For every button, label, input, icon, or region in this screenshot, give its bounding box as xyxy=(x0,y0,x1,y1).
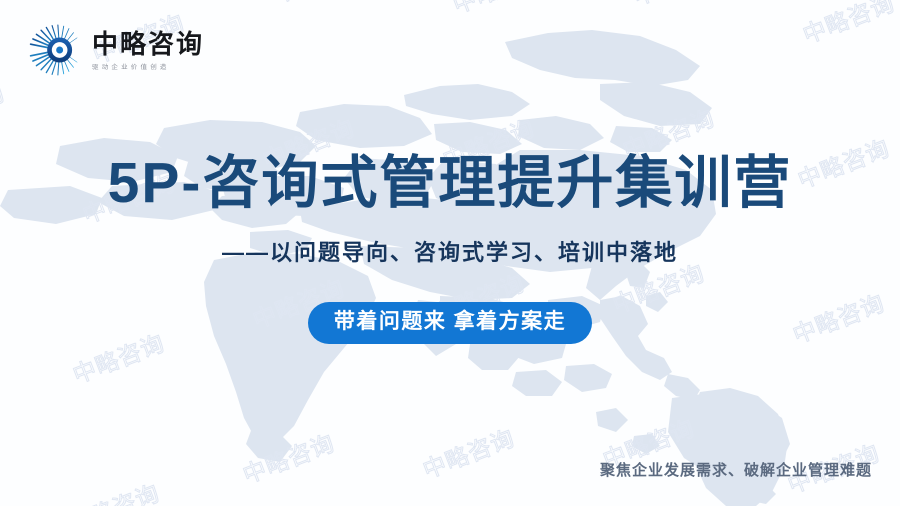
watermark-text: 中略咨询 xyxy=(237,424,339,490)
title-block: 5P-咨询式管理提升集训营 ——以问题导向、咨询式学习、培训中落地 带着问题来 … xyxy=(0,150,900,344)
logo-company-name: 中略咨询 xyxy=(92,31,204,58)
watermark-text: 中略咨询 xyxy=(627,0,729,12)
radial-burst-eye-icon xyxy=(26,22,84,78)
watermark-text: 中略咨询 xyxy=(62,474,164,506)
watermark-text: 中略咨询 xyxy=(447,0,549,20)
logo-slogan: 驱动企业价值创造 xyxy=(92,61,204,71)
logo-text-block: 中略咨询 驱动企业价值创造 xyxy=(92,29,204,71)
company-logo: 中略咨询 驱动企业价值创造 xyxy=(26,22,204,78)
footer-tagline: 聚焦企业发展需求、破解企业管理难题 xyxy=(600,459,872,480)
page-subtitle: ——以问题导向、咨询式学习、培训中落地 xyxy=(222,235,678,267)
presentation-slide: 中略咨询中略咨询中略咨询中略咨询中略咨询中略咨询中略咨询中略咨询中略咨询中略咨询… xyxy=(0,0,900,506)
cta-pill-badge[interactable]: 带着问题来 拿着方案走 xyxy=(308,302,592,343)
watermark-text: 中略咨询 xyxy=(267,0,369,10)
watermark-text: 中略咨询 xyxy=(797,0,899,50)
page-title: 5P-咨询式管理提升集训营 xyxy=(108,150,793,217)
watermark-text: 中略咨询 xyxy=(417,419,519,485)
watermark-text: 中略咨询 xyxy=(0,74,9,140)
